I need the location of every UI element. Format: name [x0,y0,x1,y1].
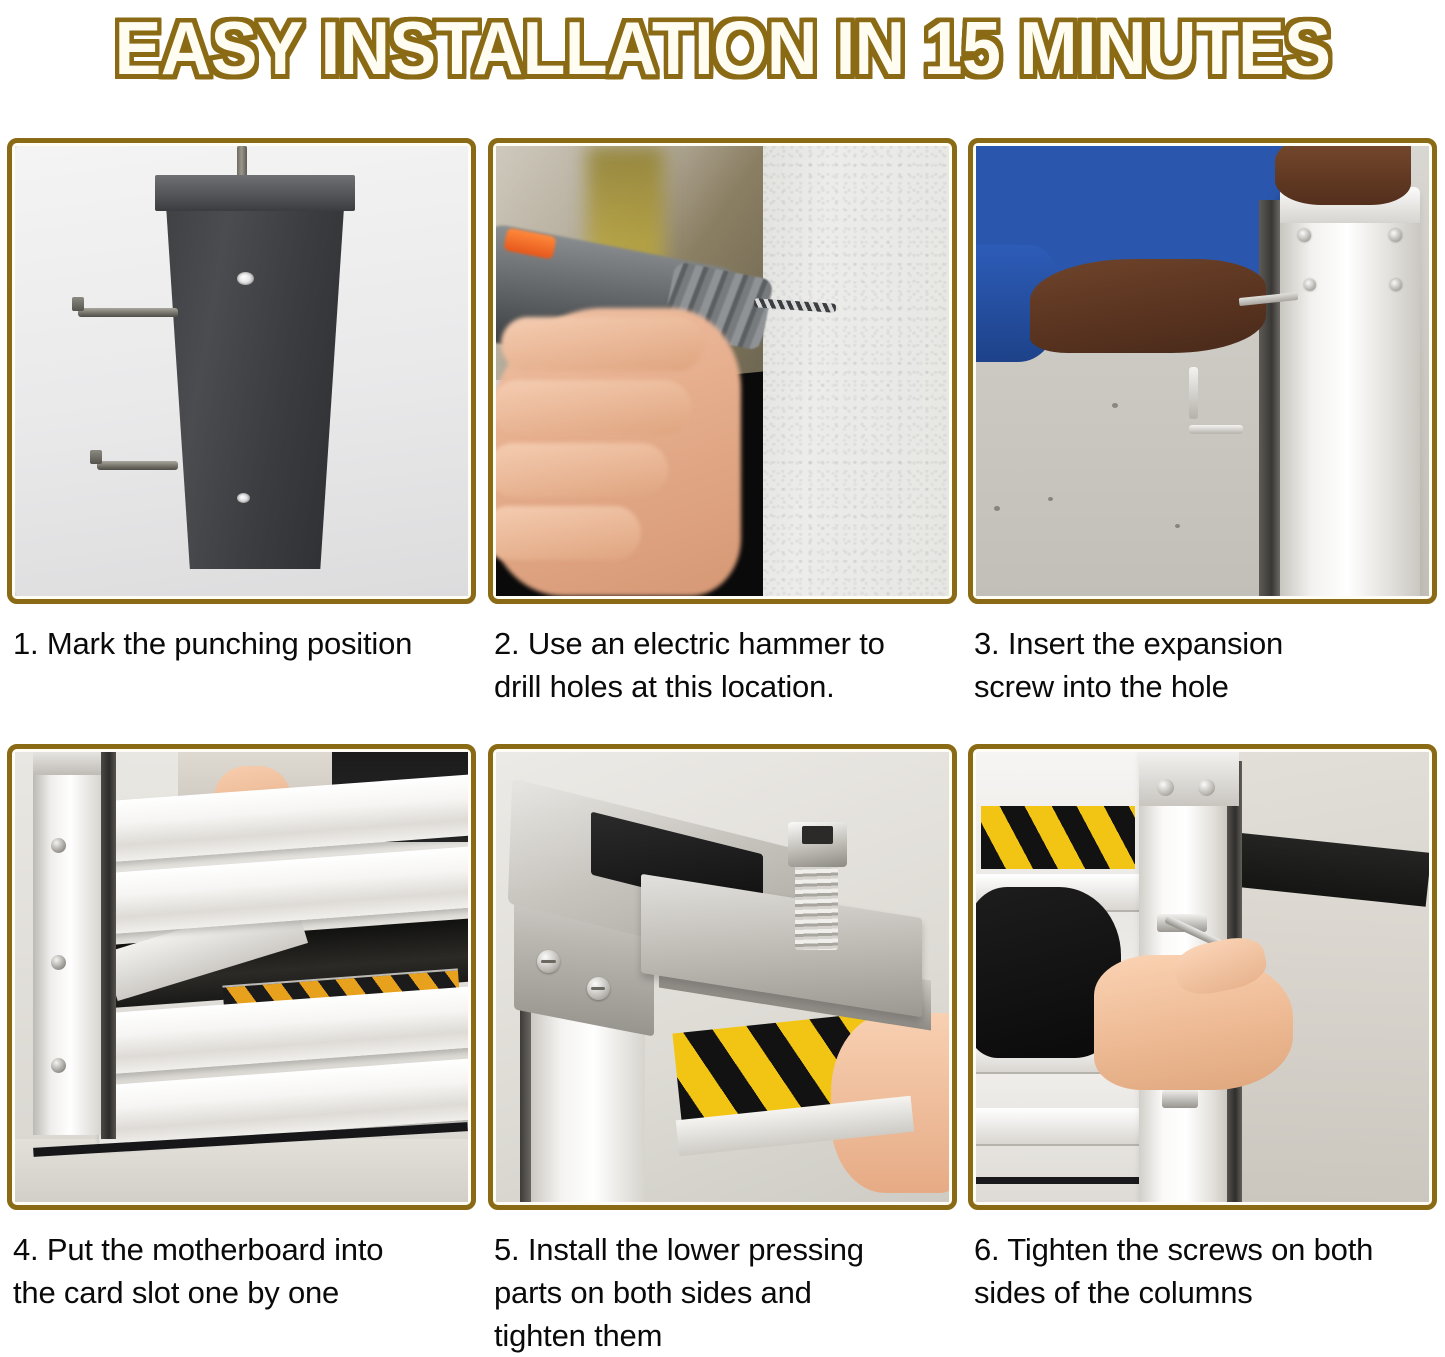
column-screw [51,838,66,853]
column-dark-edge [1259,200,1279,596]
step-card-2: 2. Use an electric hammer to drill holes… [488,138,957,708]
step-photo-frame-5 [488,744,957,1210]
step-caption-3: 3. Insert the expansion screw into the h… [968,622,1437,708]
caption-line: 3. Insert the expansion [974,622,1437,665]
column-screw [1304,279,1316,291]
step-card-6: 6. Tighten the screws on both sides of t… [968,744,1437,1314]
step-photo-3 [976,146,1429,596]
top-stud [237,146,247,178]
step-caption-6: 6. Tighten the screws on both sides of t… [968,1228,1437,1314]
step-photo-5 [496,752,949,1202]
caption-line: 5. Install the lower pressing [494,1228,957,1271]
column-screw-lower [1162,1090,1198,1108]
step-photo-frame-6 [968,744,1437,1210]
bracket-hole-lower [237,493,250,503]
column-screw [51,955,66,970]
steps-grid: 1. Mark the punching position 2. [0,96,1445,1352]
caption-line: 4. Put the motherboard into [13,1228,476,1271]
step-caption-1: 1. Mark the punching position [7,622,476,665]
caption-line: sides of the columns [974,1271,1437,1314]
step-caption-5: 5. Install the lower pressing parts on b… [488,1228,957,1357]
step-card-1: 1. Mark the punching position [7,138,476,665]
expansion-bolt-lower [97,461,179,470]
white-column [33,752,101,1135]
step-photo-frame-4 [7,744,476,1210]
bolt-hex-socket [802,826,834,844]
step-photo-4 [15,752,468,1202]
bracket-top-plate [155,175,354,211]
caption-line: 2. Use an electric hammer to [494,622,957,665]
step-photo-frame-3 [968,138,1437,604]
finger [496,443,668,497]
header-banner: EASY INSTALLATION IN 15 MINUTES [0,0,1445,96]
column-screw [1389,229,1402,242]
bracket-screw [587,977,610,1000]
caption-line: screw into the hole [974,665,1437,708]
white-column [1280,196,1420,597]
barrier-board [976,1108,1157,1146]
finger [496,380,691,434]
forearm [1030,259,1266,354]
floor-speck [1112,403,1118,408]
upper-hand [1275,146,1411,205]
page-title: EASY INSTALLATION IN 15 MINUTES [115,8,1331,88]
column-slot-channel [101,752,116,1139]
column-screw [1198,779,1215,796]
bracket-screw [537,950,560,973]
step-card-3: 3. Insert the expansion screw into the h… [968,138,1437,708]
step-card-4: 4. Put the motherboard into the card slo… [7,744,476,1314]
textured-white-wall [763,146,949,596]
finger [496,506,641,560]
bolt-head-upper [72,297,84,311]
bracket-hole-upper [237,272,254,285]
bolt-thread [795,860,838,950]
caption-line: parts on both sides and [494,1271,957,1314]
column-cap [33,752,101,775]
hazard-stripe-panel [981,806,1135,869]
step-card-5: 5. Install the lower pressing parts on b… [488,744,957,1357]
caption-line: the card slot one by one [13,1271,476,1314]
caption-line: tighten them [494,1314,957,1357]
caption-line: 6. Tighten the screws on both [974,1228,1437,1271]
step-photo-frame-2 [488,138,957,604]
column-cap [1139,752,1239,806]
step-photo-1 [15,146,468,596]
expansion-bolt-upper [78,308,178,317]
step-caption-2: 2. Use an electric hammer to drill holes… [488,622,957,708]
mounting-bracket [164,182,345,569]
caption-line: 1. Mark the punching position [13,622,476,665]
finger [501,317,705,371]
caption-line: drill holes at this location. [494,665,957,708]
step-photo-2 [496,146,949,596]
step-photo-frame-1 [7,138,476,604]
hex-key-on-floor [1189,367,1252,435]
base-seal-strip [976,1177,1157,1184]
step-photo-6 [976,752,1429,1202]
bolt-head-lower [90,450,102,464]
step-caption-4: 4. Put the motherboard into the card slo… [7,1228,476,1314]
column-screw [1390,279,1402,291]
